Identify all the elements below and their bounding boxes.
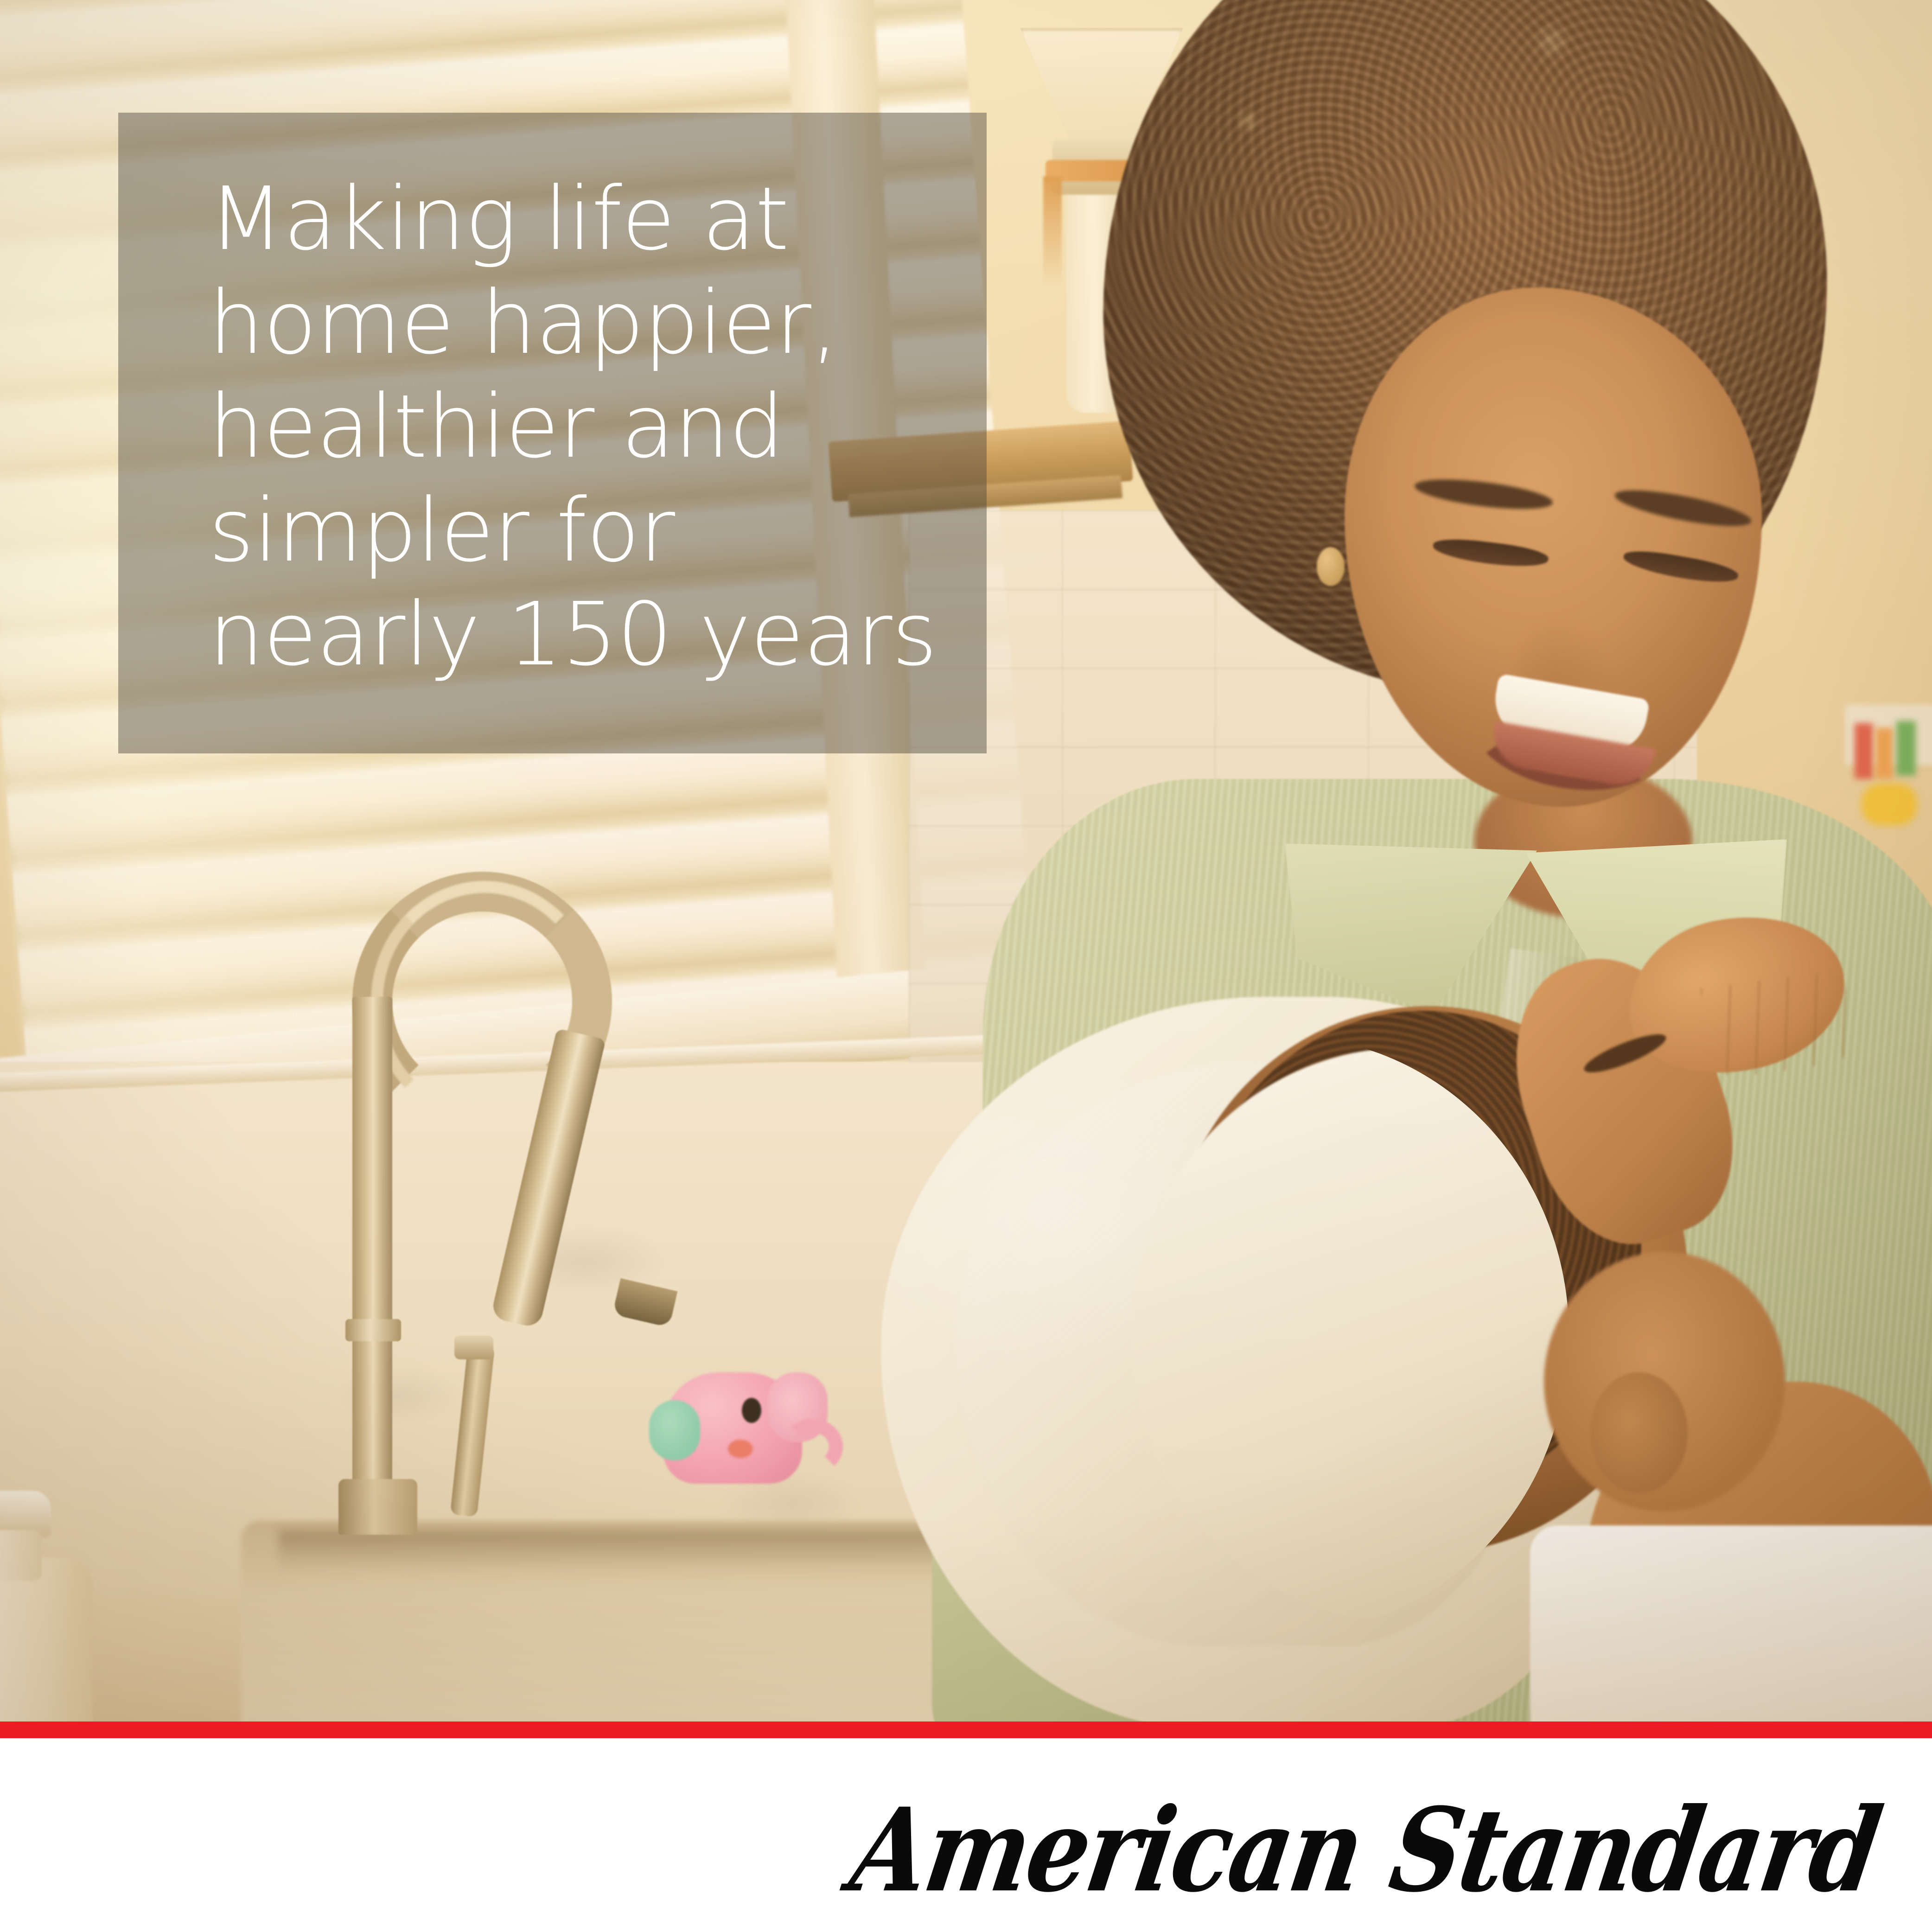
elephant-eye (742, 1398, 761, 1423)
faucet-collar (345, 1319, 401, 1341)
mother-earring (1317, 547, 1345, 586)
soap-dispenser-neck (0, 1530, 42, 1581)
background-bottle-red (1855, 723, 1873, 779)
headline-overlay-box: Making life at home happier, healthier a… (118, 113, 987, 753)
headline-text: Making life at home happier, healthier a… (209, 167, 959, 687)
background-bottle-green (1896, 721, 1916, 776)
carafe-tie-tail (1043, 176, 1062, 287)
bath-toy-green-part (649, 1400, 700, 1460)
elephant-trunk (783, 1419, 843, 1474)
sink-shadow (278, 1530, 974, 1572)
faucet-column (352, 997, 392, 1502)
advertisement-card: Making life at home happier, healthier a… (0, 0, 1932, 1932)
background-fruit-bowl (1862, 784, 1917, 825)
elephant-cheek (728, 1440, 753, 1458)
soap-dispenser-bottle (0, 1558, 93, 1722)
american-standard-logo: American Standard (844, 1793, 1887, 1908)
faucet-handle-knob (454, 1335, 493, 1359)
baby-ear (1590, 1372, 1688, 1493)
faucet-base (338, 1479, 417, 1535)
brand-red-divider (0, 1722, 1932, 1738)
background-bottle-orange (1875, 728, 1893, 779)
baby-body-wrap (1530, 1525, 1932, 1722)
